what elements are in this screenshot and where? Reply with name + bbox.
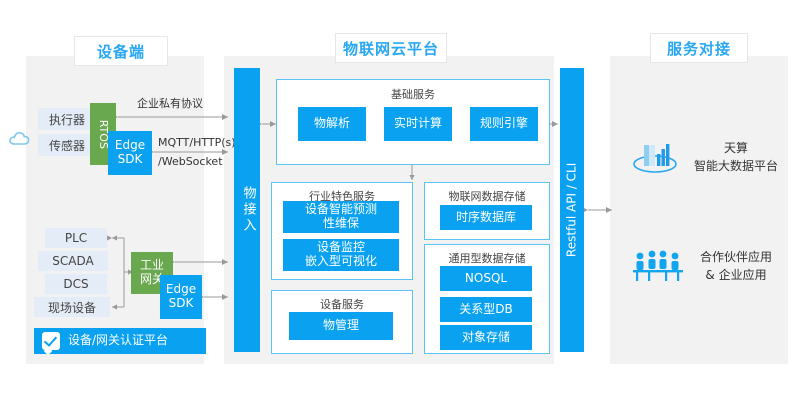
partners-people-icon [630,249,686,283]
check-icon [42,332,60,350]
predictive-line2: 性维保 [323,217,359,231]
edge-sdk-box-device: Edge SDK [108,131,152,175]
device-label-plc: PLC [45,228,107,248]
storage-relational-db: 关系型DB [440,297,532,322]
storage-object: 对象存储 [440,325,532,350]
restful-api-bar: Restful API / CLI [560,68,584,352]
service-item-bigdata-text: 天算 智能大数据平台 [694,139,778,175]
edge-sdk-gw-line2: SDK [169,297,194,311]
thing-ingest-bar: 物接入 [234,68,260,352]
protocol-label-websocket: /WebSocket [158,155,223,168]
group-basic-services-title: 基础服务 [277,86,549,102]
thing-ingest-label: 物接入 [240,186,255,234]
storage-nosql: NOSQL [440,266,532,291]
service-realtime-compute: 实时计算 [384,107,452,141]
monitoring-line1: 设备监控 [317,241,365,255]
diagram-canvas: 设备端 物联网云平台 服务对接 执行器 传感器 RTOS Edge SDK 企业… [0,0,802,411]
service-item-bigdata: 天算 智能大数据平台 [630,138,778,176]
section-title-device: 设备端 [74,36,168,66]
service-rule-engine: 规则引擎 [470,107,538,141]
edge-sdk-line1: Edge [115,139,145,153]
edge-sdk-line2: SDK [118,153,143,167]
edge-sdk-box-gateway: Edge SDK [160,275,202,319]
service-device-monitoring: 设备监控 嵌入型可视化 [283,239,399,271]
device-label-dcs: DCS [45,274,107,294]
panel-service-integration [610,56,788,364]
gateway-line1: 工业 [140,259,164,273]
service-thing-parse: 物解析 [298,107,366,141]
bigdata-line2: 智能大数据平台 [694,157,778,175]
service-item-partners: 合作伙伴应用 & 企业应用 [630,248,772,284]
device-label-field-device: 现场设备 [34,297,110,317]
group-device-services-title: 设备服务 [272,296,412,312]
device-label-scada: SCADA [38,251,108,271]
bigdata-building-icon [630,138,680,176]
monitoring-line2: 嵌入型可视化 [305,255,377,269]
predictive-line1: 设备智能预测 [305,203,377,217]
auth-platform-label: 设备/网关认证平台 [68,334,168,348]
bigdata-line1: 天算 [694,139,778,157]
protocol-label-private: 企业私有协议 [137,95,203,111]
protocol-label-mqtt: MQTT/HTTP(s) [158,136,236,149]
auth-platform-bar: 设备/网关认证平台 [34,328,206,354]
restful-api-label: Restful API / CLI [565,163,579,257]
group-general-storage-title: 通用型数据存储 [425,250,549,266]
group-iot-storage-title: 物联网数据存储 [425,188,549,204]
partners-line2: & 企业应用 [700,266,772,284]
storage-timeseries-db: 时序数据库 [440,205,532,230]
section-title-service: 服务对接 [650,33,748,63]
partners-line1: 合作伙伴应用 [700,248,772,266]
service-predictive-maintenance: 设备智能预测 性维保 [283,201,399,233]
edge-sdk-gw-line1: Edge [166,283,196,297]
service-thing-management: 物管理 [289,312,393,340]
device-label-actuator: 执行器 [38,108,96,130]
cloud-icon [8,128,34,148]
service-item-partners-text: 合作伙伴应用 & 企业应用 [700,248,772,284]
section-title-cloud: 物联网云平台 [335,33,447,63]
device-label-sensor: 传感器 [38,134,96,156]
